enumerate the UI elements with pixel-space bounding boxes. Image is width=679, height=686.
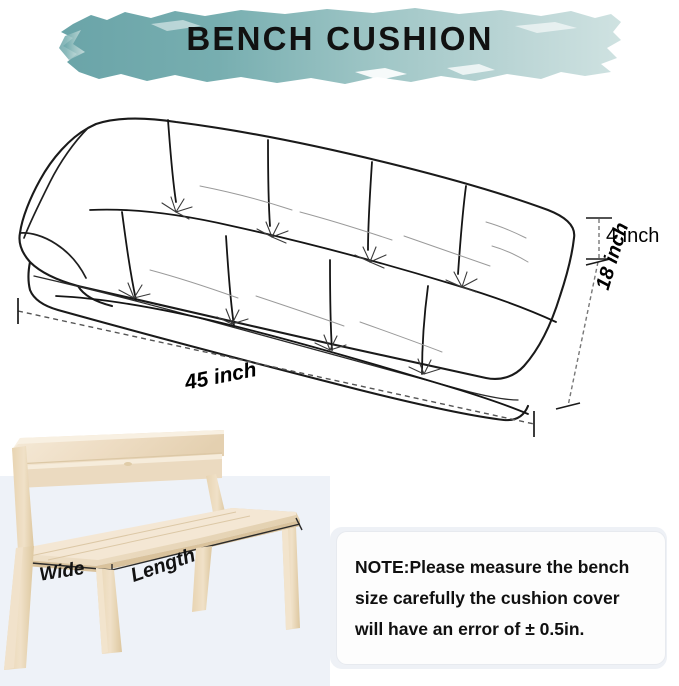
cushion-drawing-svg xyxy=(0,100,679,440)
note-line-2: size carefully the cushion cover xyxy=(355,583,647,614)
cushion-illustration xyxy=(0,100,679,440)
note-line-3: will have an error of ± 0.5in. xyxy=(355,614,647,645)
infographic-page: BENCH CUSHION xyxy=(0,0,679,686)
note-line-1: NOTE:Please measure the bench xyxy=(355,552,647,583)
note-box: NOTE:Please measure the bench size caref… xyxy=(336,531,666,665)
page-title: BENCH CUSHION xyxy=(55,20,625,58)
header-banner: BENCH CUSHION xyxy=(55,2,625,94)
